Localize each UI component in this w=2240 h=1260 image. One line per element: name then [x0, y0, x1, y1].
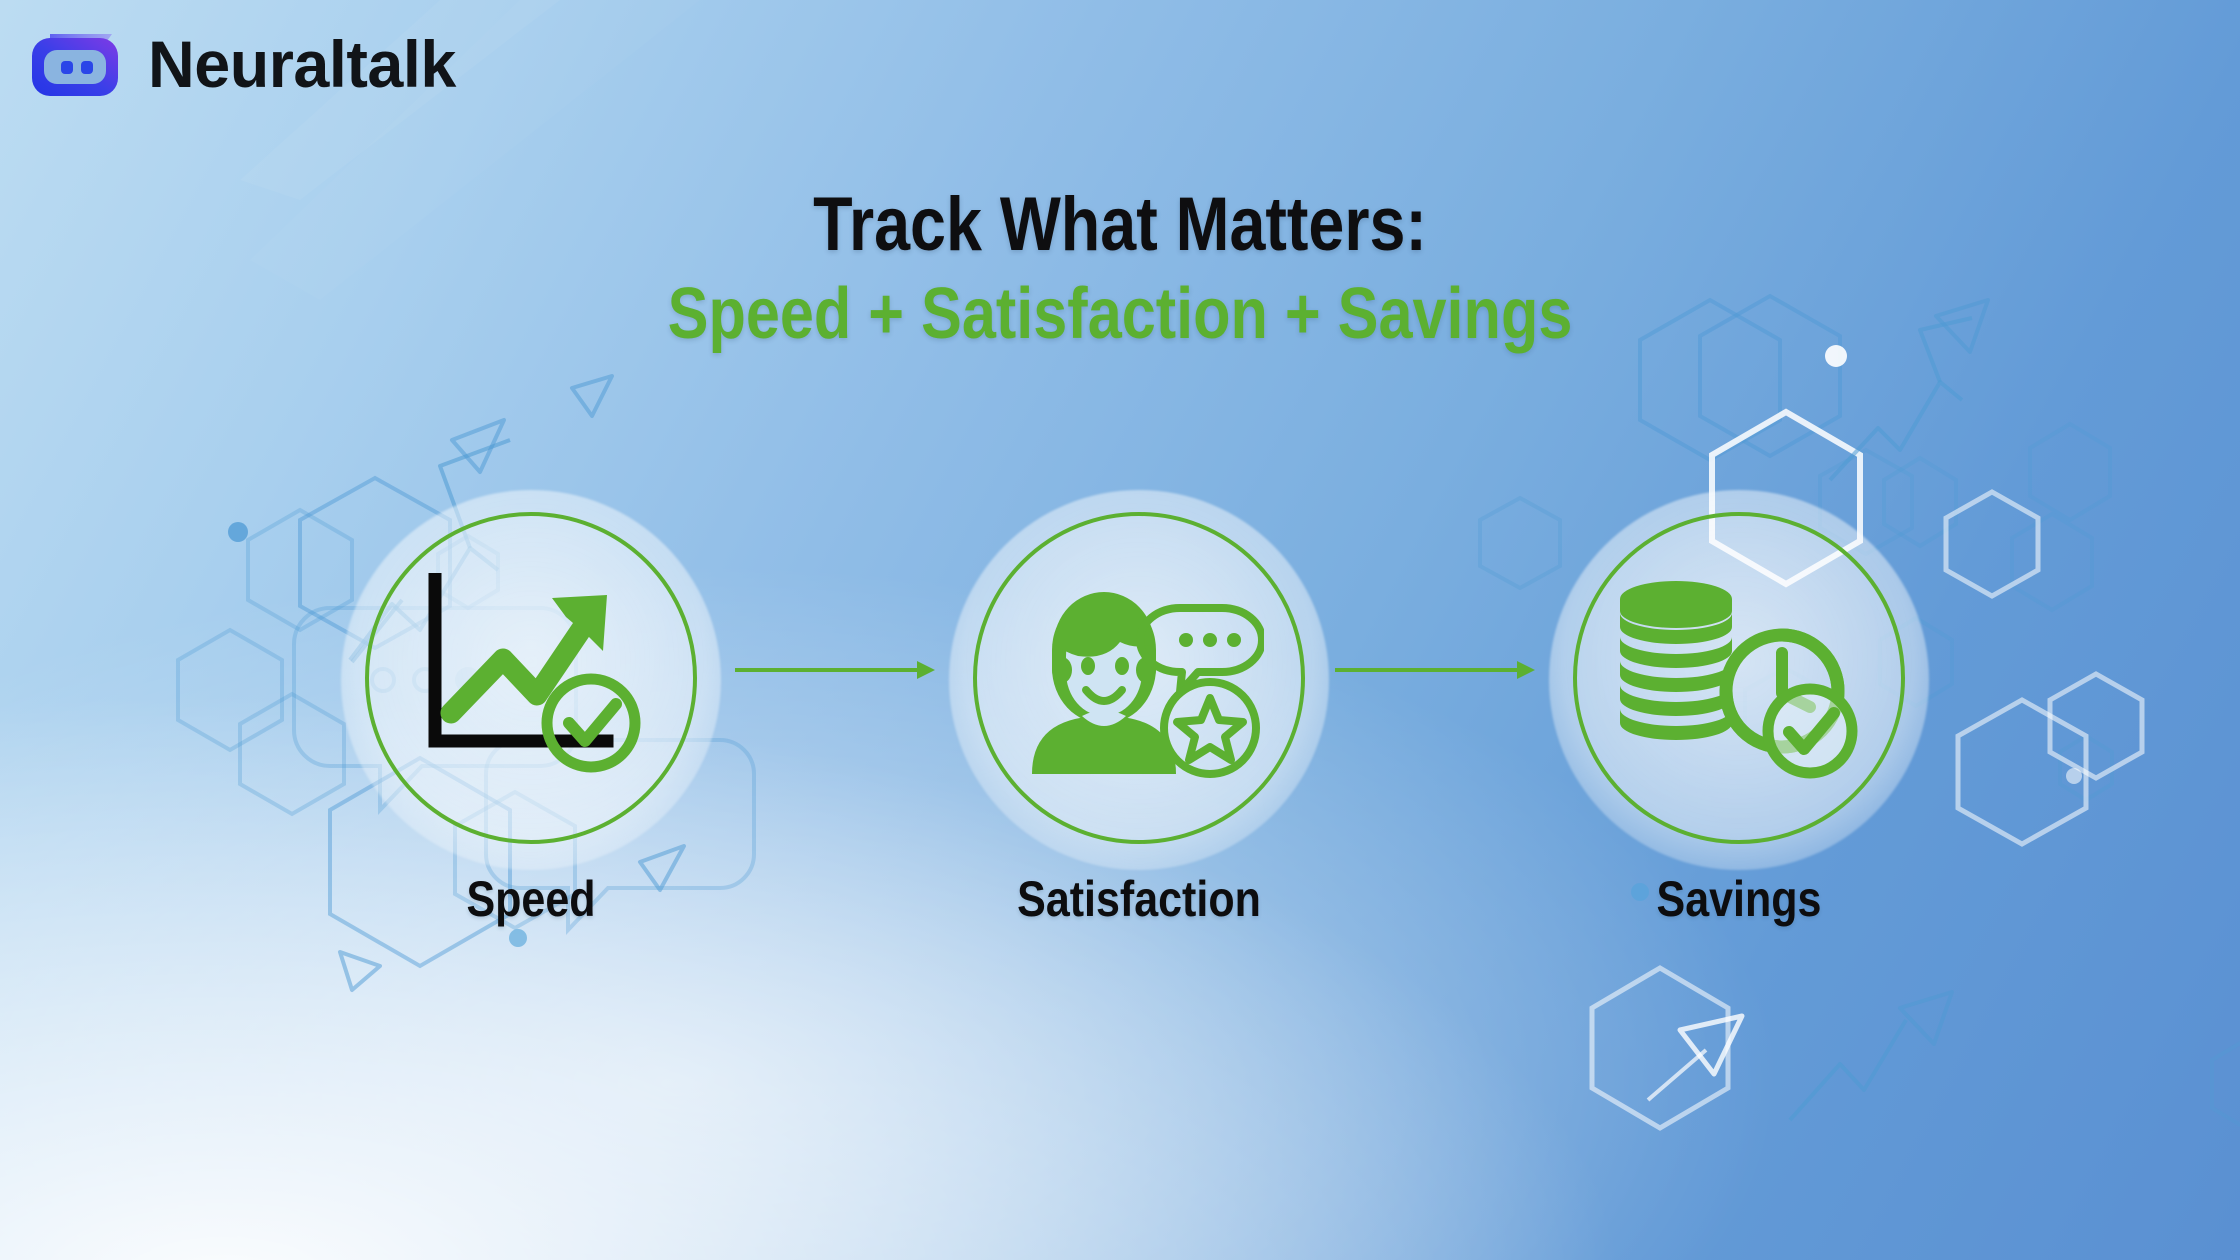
- check-circle-icon: [1768, 689, 1852, 773]
- arrow-right-icon: [735, 658, 935, 682]
- happy-customer-icon: [973, 512, 1305, 844]
- pillar-label: Savings: [1554, 870, 1924, 928]
- coin-stack: [1620, 581, 1732, 740]
- page-title: Track What Matters:: [168, 186, 2072, 264]
- chat-bubble-logo-icon: [28, 28, 126, 100]
- slide-canvas: .hxb { fill:none; stroke:#4e9ad4; stroke…: [0, 0, 2240, 1260]
- headline-block: Track What Matters: Speed + Satisfaction…: [0, 186, 2240, 351]
- pillars-row: Speed: [0, 470, 2240, 990]
- pillar-label: Speed: [346, 870, 716, 928]
- brand-name: Neuraltalk: [148, 31, 456, 97]
- brand-logo[interactable]: Neuraltalk: [28, 28, 462, 100]
- page-subtitle: Speed + Satisfaction + Savings: [168, 278, 2072, 351]
- arrow-right-icon: [1335, 658, 1535, 682]
- pillar-label: Satisfaction: [954, 870, 1324, 928]
- coin-stack-clock-check-icon: [1573, 512, 1905, 844]
- growth-chart-arrow-check-icon: [365, 512, 697, 844]
